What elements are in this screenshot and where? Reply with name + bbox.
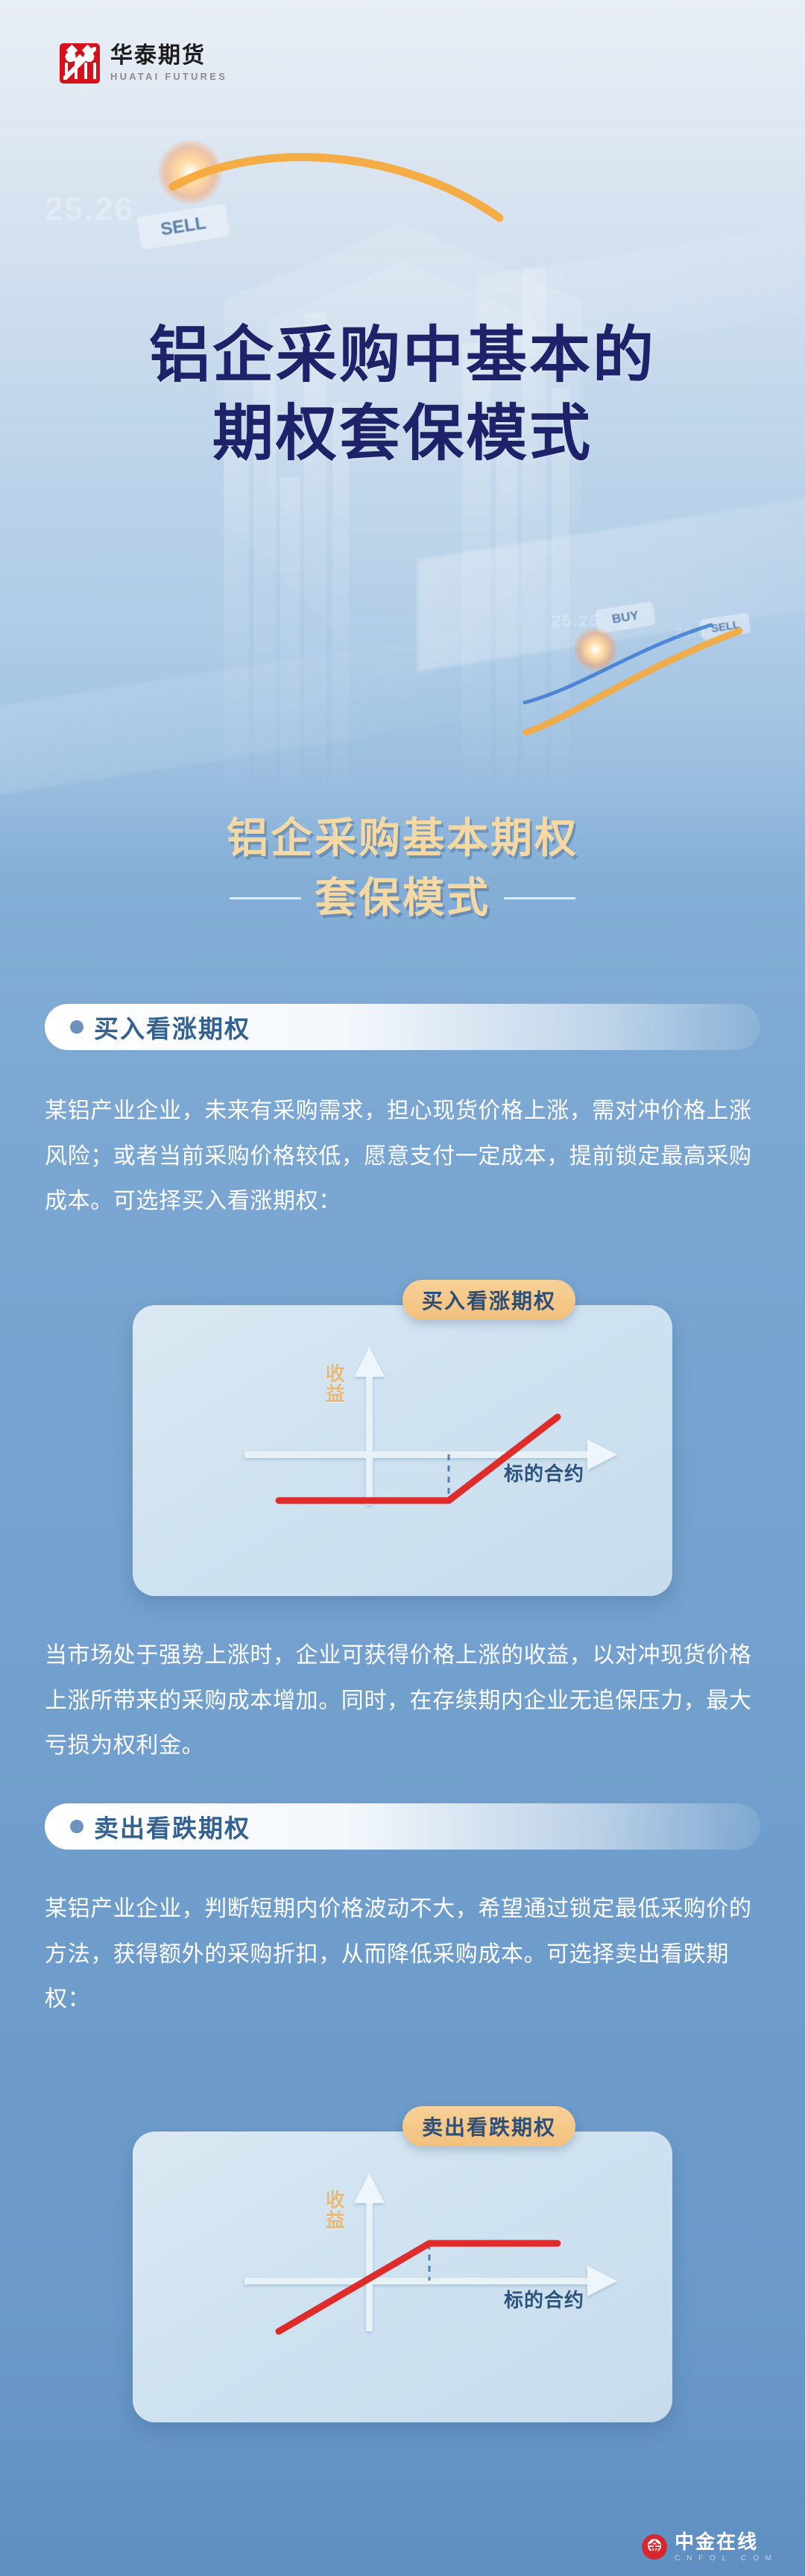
cnfol-logo-icon: 金 [642,2534,667,2560]
cnfol-mark-char: 金 [648,2541,661,2554]
gold-rule-right [504,897,575,899]
chart-card-buy-call: 收益 标的合约 [133,1305,672,1596]
gold-heading-line2: 套保模式 [315,869,490,929]
section-header-buy-call: 买入看涨期权 [45,1004,760,1050]
chart2-payoff-diagram [133,2132,672,2422]
hero-title-line1: 铝企采购中基本的 [0,317,805,395]
blue-arc-decor [522,619,716,709]
gold-heading-line1: 铝企采购基本期权 [0,809,805,869]
bullet-dot-icon [70,1820,83,1833]
section-header-sell-put-label: 卖出看跌期权 [94,1809,250,1844]
gold-heading: 铝企采购基本期权 套保模式 [0,809,805,928]
chart1-payoff-diagram [133,1305,672,1596]
brand-logo: 华泰期货 HUATAI FUTURES [60,43,227,84]
section-buy-call-paragraph-after: 当市场处于强势上涨时，企业可获得价格上涨的收益，以对冲现货价格上涨所带来的采购成… [45,1633,760,1769]
decor-number-1: 25.26 [45,191,134,228]
chart-badge-buy-call: 买入看涨期权 [402,1280,575,1320]
bullet-dot-icon [70,1020,83,1034]
huatai-logo-icon [60,43,100,84]
page-background: 25.26 25.25 24.67 SELL BUY SELL 华泰期货 HUA… [0,0,805,2576]
brand-name-en: HUATAI FUTURES [110,71,227,82]
orange-arc-1 [164,142,507,224]
hero-title-line2: 期权套保模式 [0,395,805,474]
footer-subtitle: C N F O L . C O M [675,2554,774,2563]
footer-watermark: 金 中金在线 C N F O L . C O M [642,2532,774,2563]
chart-badge-sell-put: 卖出看跌期权 [402,2106,575,2146]
chart-card-sell-put: 收益 标的合约 [133,2132,672,2422]
section-header-sell-put: 卖出看跌期权 [45,1803,760,1850]
hero-title: 铝企采购中基本的 期权套保模式 [0,317,805,474]
section-buy-call-paragraph: 某铝产业企业，未来有采购需求，担心现货价格上涨，需对冲价格上涨风险；或者当前采购… [45,1089,760,1225]
section-header-buy-call-label: 买入看涨期权 [94,1009,250,1045]
gold-rule-left [230,897,301,899]
footer-title: 中金在线 [675,2532,774,2552]
section-sell-put-paragraph: 某铝产业企业，判断短期内价格波动不大，希望通过锁定最低采购价的方法，获得额外的采… [45,1887,760,2023]
brand-name-cn: 华泰期货 [110,45,227,67]
